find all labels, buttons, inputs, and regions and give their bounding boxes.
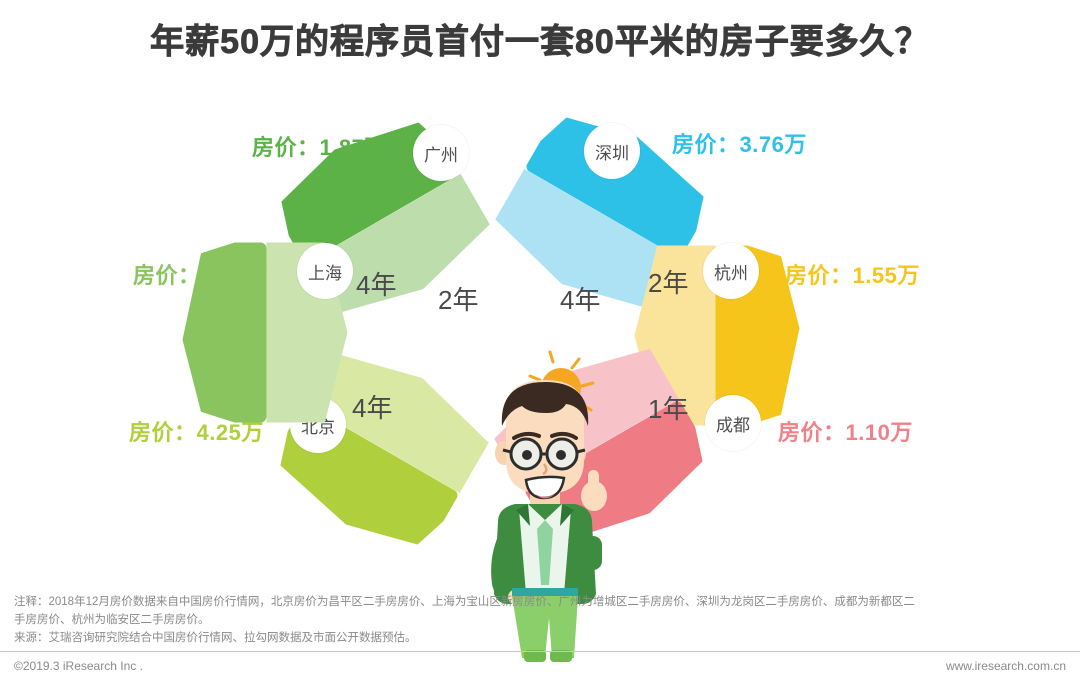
copyright-text: ©2019.3 iResearch Inc . bbox=[14, 659, 143, 673]
price-label-shanghai: 房价：4.90万 bbox=[133, 258, 268, 290]
eye-left bbox=[522, 450, 532, 460]
infographic-page: 年薪50万的程序员首付一套80平米的房子要多久？ 2年 广州 房价：1.87万 … bbox=[0, 0, 1080, 681]
city-bubble-hangzhou[interactable]: 杭州 bbox=[703, 243, 759, 299]
city-label-hangzhou: 杭州 bbox=[714, 259, 748, 284]
price-label-hangzhou: 房价：1.55万 bbox=[785, 258, 920, 290]
price-label-shenzhen: 房价：3.76万 bbox=[672, 127, 807, 159]
price-label-guangzhou: 房价：1.87万 bbox=[252, 130, 387, 162]
city-label-shenzhen: 深圳 bbox=[595, 139, 629, 164]
petal-chart: 2年 广州 房价：1.87万 4年 深圳 房价：3.76万 2年 杭州 房价：1… bbox=[0, 95, 1080, 575]
petal-years-shanghai: 4年 bbox=[356, 265, 396, 302]
note-line-1: 注释：2018年12月房价数据来自中国房价行情网，北京房价为昌平区二手房房价、上… bbox=[14, 594, 1070, 612]
eye-right bbox=[556, 450, 566, 460]
footer: ©2019.3 iResearch Inc . www.iresearch.co… bbox=[0, 656, 1080, 681]
footer-divider bbox=[0, 651, 1080, 652]
note-line-3: 来源：艾瑞咨询研究院结合中国房价行情网、拉勾网数据及市面公开数据预估。 bbox=[14, 630, 1070, 648]
page-title: 年薪50万的程序员首付一套80平米的房子要多久？ bbox=[0, 14, 1080, 63]
price-label-chengdu: 房价：1.10万 bbox=[778, 415, 913, 447]
city-bubble-shanghai[interactable]: 上海 bbox=[297, 243, 353, 299]
note-line-2: 手房房价、杭州为临安区二手房房价。 bbox=[14, 612, 1070, 630]
petal-years-hangzhou: 2年 bbox=[648, 263, 688, 300]
pointing-finger bbox=[588, 470, 599, 496]
city-bubble-guangzhou[interactable]: 广州 bbox=[413, 125, 469, 181]
petal-years-shenzhen: 4年 bbox=[560, 280, 600, 317]
city-label-shanghai: 上海 bbox=[308, 259, 342, 284]
petal-years-guangzhou: 2年 bbox=[438, 280, 478, 317]
city-bubble-shenzhen[interactable]: 深圳 bbox=[584, 123, 640, 179]
website-url[interactable]: www.iresearch.com.cn bbox=[946, 659, 1066, 673]
city-label-guangzhou: 广州 bbox=[424, 141, 458, 166]
footnotes: 注释：2018年12月房价数据来自中国房价行情网，北京房价为昌平区二手房房价、上… bbox=[14, 594, 1070, 647]
city-label-chengdu: 成都 bbox=[716, 411, 750, 436]
petal-years-beijing: 4年 bbox=[352, 388, 392, 425]
city-bubble-chengdu[interactable]: 成都 bbox=[705, 395, 761, 451]
petal-years-chengdu: 1年 bbox=[648, 389, 688, 426]
